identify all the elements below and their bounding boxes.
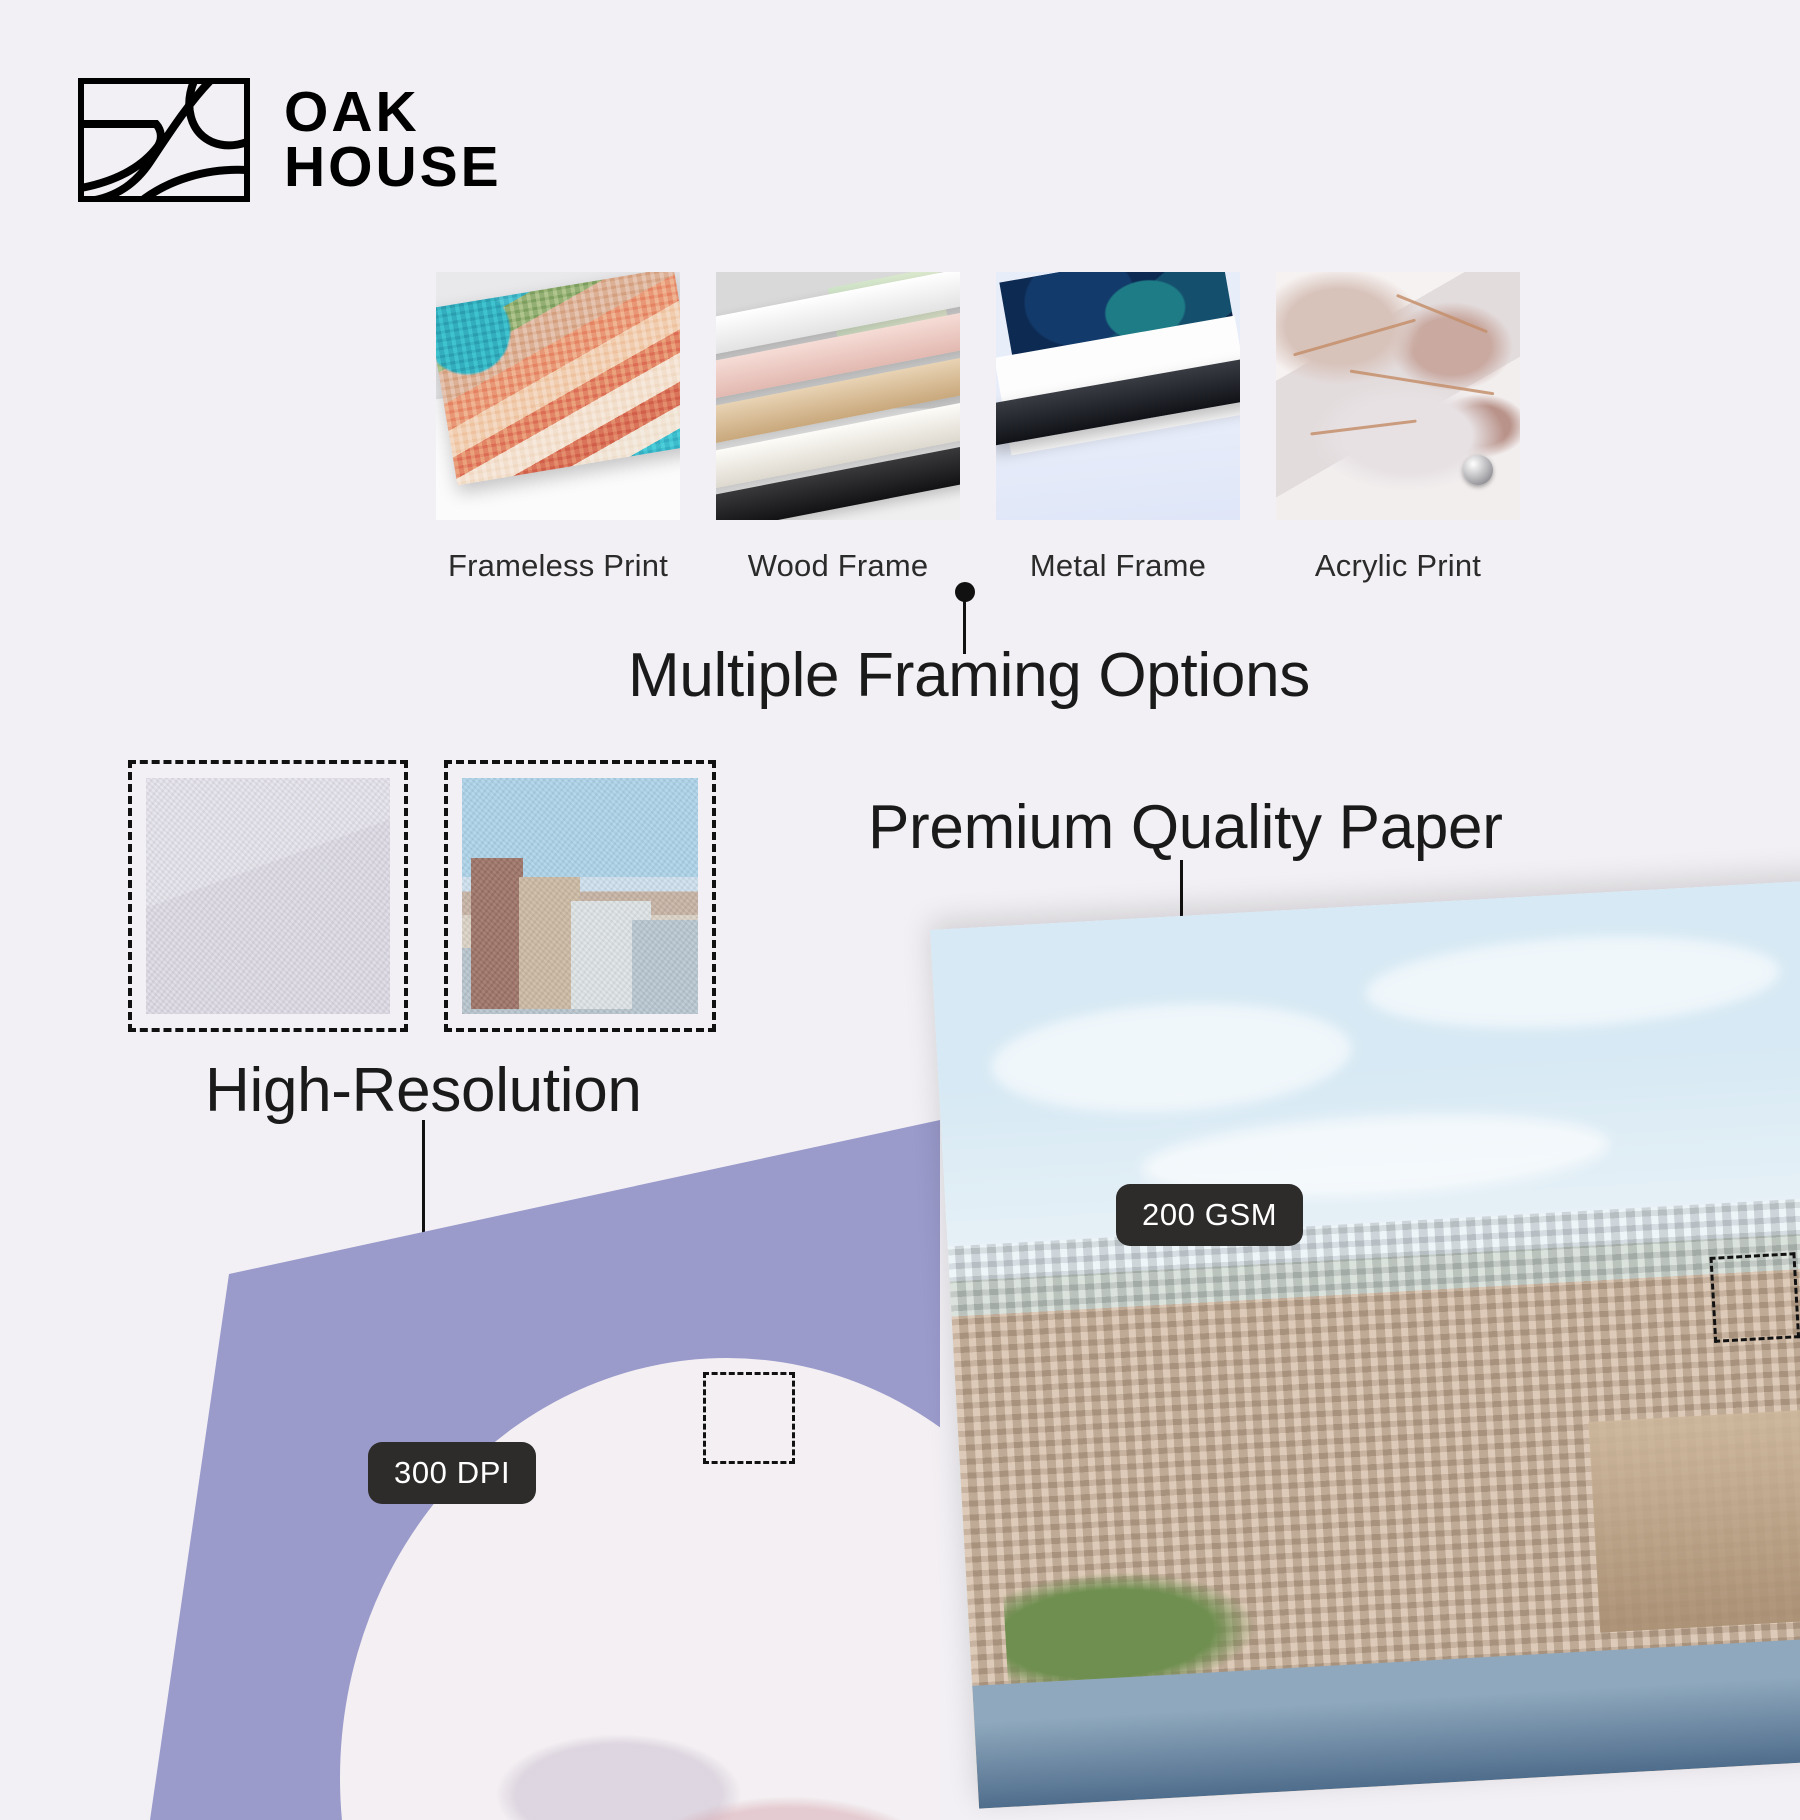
oakhouse-landscape-mark-icon [78,78,250,202]
framing-option-acrylic-print[interactable]: Acrylic Print [1276,272,1520,584]
framing-option-label: Frameless Print [436,548,680,584]
crop-marker [1709,1252,1800,1343]
framing-option-metal-frame[interactable]: Metal Frame [996,272,1240,584]
metal-frame-thumb-icon [996,272,1240,520]
frameless-print-thumb-icon [436,272,680,520]
headline-resolution: High-Resolution [205,1055,642,1126]
brand-name: OAK HOUSE [284,85,502,196]
paper-texture-swatch-artwork [444,760,716,1032]
brand-name-line1: OAK [284,85,502,140]
acrylic-print-thumb-icon [1276,272,1520,520]
framing-options-row: Frameless Print Wood Frame Metal Frame [436,272,1520,584]
framing-option-label: Acrylic Print [1276,548,1520,584]
wood-frame-thumb-icon [716,272,960,520]
badge-dpi: 300 DPI [368,1442,536,1504]
crop-marker [703,1372,795,1464]
purple-moon-poster [150,1120,940,1820]
headline-paper: Premium Quality Paper [868,792,1503,863]
framing-option-label: Metal Frame [996,548,1240,584]
brand-name-line2: HOUSE [284,140,502,195]
infographic-canvas: OAK HOUSE Frameless Print Wood Frame [0,0,1800,1800]
framing-option-frameless-print[interactable]: Frameless Print [436,272,680,584]
headline-framing: Multiple Framing Options [628,640,1310,711]
badge-gsm: 200 GSM [1116,1184,1303,1246]
paper-texture-swatch-blank [128,760,408,1032]
brand-logo: OAK HOUSE [78,78,502,202]
framing-option-label: Wood Frame [716,548,960,584]
dubrovnik-cityscape-poster [930,880,1800,1809]
framing-option-wood-frame[interactable]: Wood Frame [716,272,960,584]
